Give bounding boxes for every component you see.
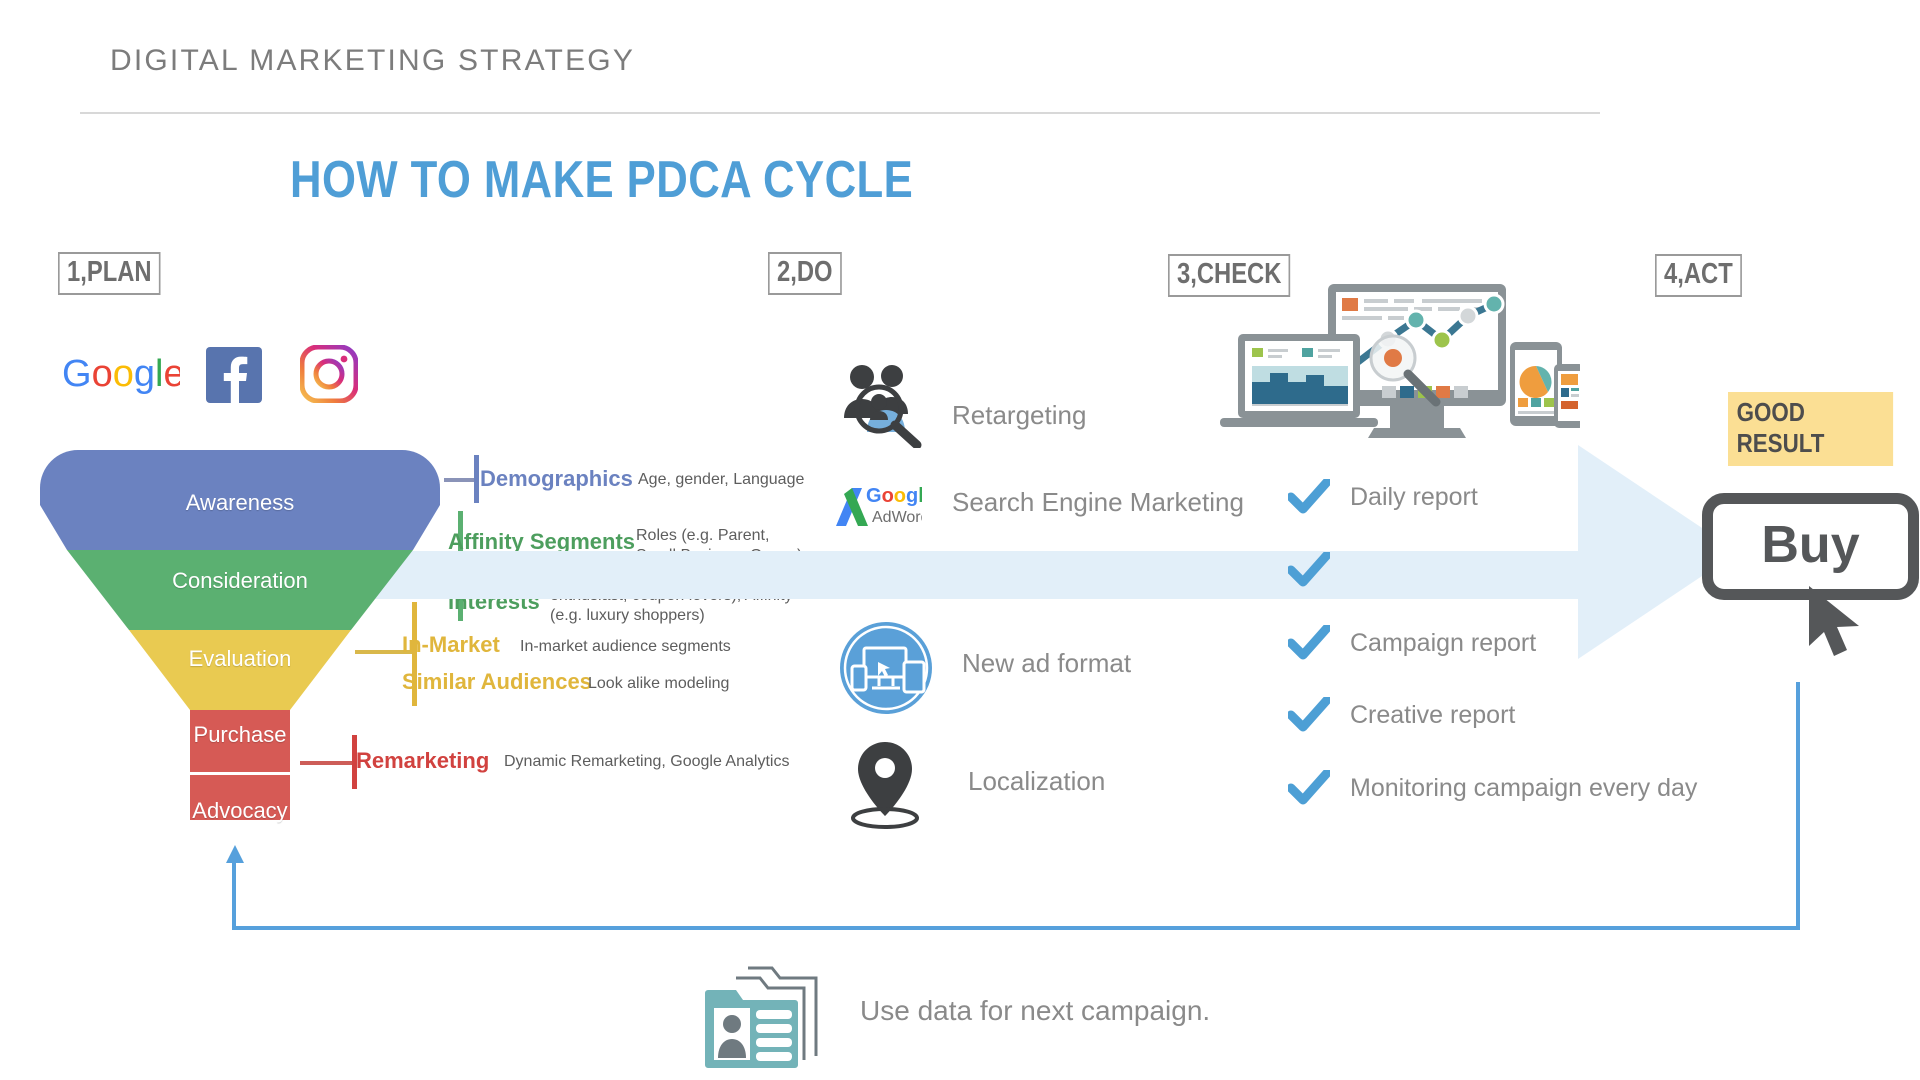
- check-label-daily-report: Daily report: [1350, 483, 1478, 512]
- feedback-loop-left-vertical: [232, 860, 236, 930]
- step-badge-do[interactable]: 2,DO: [768, 252, 842, 295]
- mouse-cursor-icon: [1805, 584, 1867, 667]
- feedback-loop-arrowhead: [225, 845, 245, 870]
- facebook-logo: [206, 347, 262, 408]
- funnel-label-purchase: Purchase: [40, 722, 440, 748]
- devices-circle-icon: [838, 620, 934, 721]
- feedback-loop-horizontal: [232, 926, 1800, 930]
- check-label-monitoring-campaign: Monitoring campaign every day: [1350, 774, 1697, 803]
- check-icon-campaign-report: [1288, 625, 1330, 666]
- good-result-badge: GOOD RESULT: [1728, 392, 1893, 466]
- check-label-creative-report: Creative report: [1350, 701, 1515, 730]
- header-divider: [80, 112, 1600, 114]
- step-badge-check[interactable]: 3,CHECK: [1168, 254, 1290, 297]
- check-label-campaign-report: Campaign report: [1350, 629, 1536, 658]
- svg-text:Google: Google: [62, 353, 180, 395]
- footer-note: Use data for next campaign.: [860, 995, 1210, 1027]
- buy-button-label: Buy: [1713, 504, 1908, 589]
- do-label-localization: Localization: [968, 766, 1105, 797]
- step-badge-plan[interactable]: 1,PLAN: [58, 252, 161, 295]
- connector-demographics-line: [444, 478, 478, 482]
- connector-demographics-bar: [474, 455, 479, 503]
- instagram-logo: [300, 345, 358, 408]
- step-badge-act[interactable]: 4,ACT: [1655, 254, 1742, 297]
- do-label-retargeting: Retargeting: [952, 400, 1086, 431]
- google-adwords-logo: Google AdWords: [814, 480, 922, 537]
- svg-text:AdWords: AdWords: [872, 509, 922, 526]
- funnel-label-consideration: Consideration: [40, 568, 440, 594]
- targeting-desc-in-market: In-market audience segments: [520, 637, 820, 657]
- check-icon-monitoring-campaign: [1288, 770, 1330, 811]
- targeting-desc-remarketing: Dynamic Remarketing, Google Analytics: [504, 752, 834, 772]
- analytics-devices-illustration: [1210, 282, 1580, 447]
- page-title: HOW TO MAKE PDCA CYCLE: [290, 150, 913, 210]
- funnel-label-evaluation: Evaluation: [40, 646, 440, 672]
- do-label-search-engine-marketing: Search Engine Marketing: [952, 487, 1244, 518]
- page-kicker: DIGITAL MARKETING STRATEGY: [110, 44, 635, 78]
- feedback-loop-right-vertical: [1796, 682, 1800, 930]
- marketing-funnel: Awareness Consideration Evaluation Purch…: [40, 450, 440, 815]
- location-pin-icon: [845, 738, 925, 835]
- check-icon-weekly-report: [1288, 552, 1330, 593]
- check-icon-daily-report: [1288, 479, 1330, 520]
- google-logo: Google: [62, 352, 180, 401]
- svg-text:Google: Google: [866, 485, 922, 507]
- targeting-term-demographics: Demographics: [480, 466, 633, 492]
- customer-data-files-icon: [700, 962, 840, 1077]
- funnel-label-awareness: Awareness: [40, 490, 440, 516]
- funnel-label-advocacy: Advocacy: [40, 798, 440, 824]
- flow-arrow-body: [345, 551, 1580, 599]
- check-icon-creative-report: [1288, 697, 1330, 738]
- audience-search-icon: [834, 362, 926, 453]
- targeting-desc-similar-audiences: Look alike modeling: [588, 674, 848, 694]
- do-label-new-ad-format: New ad format: [962, 648, 1131, 679]
